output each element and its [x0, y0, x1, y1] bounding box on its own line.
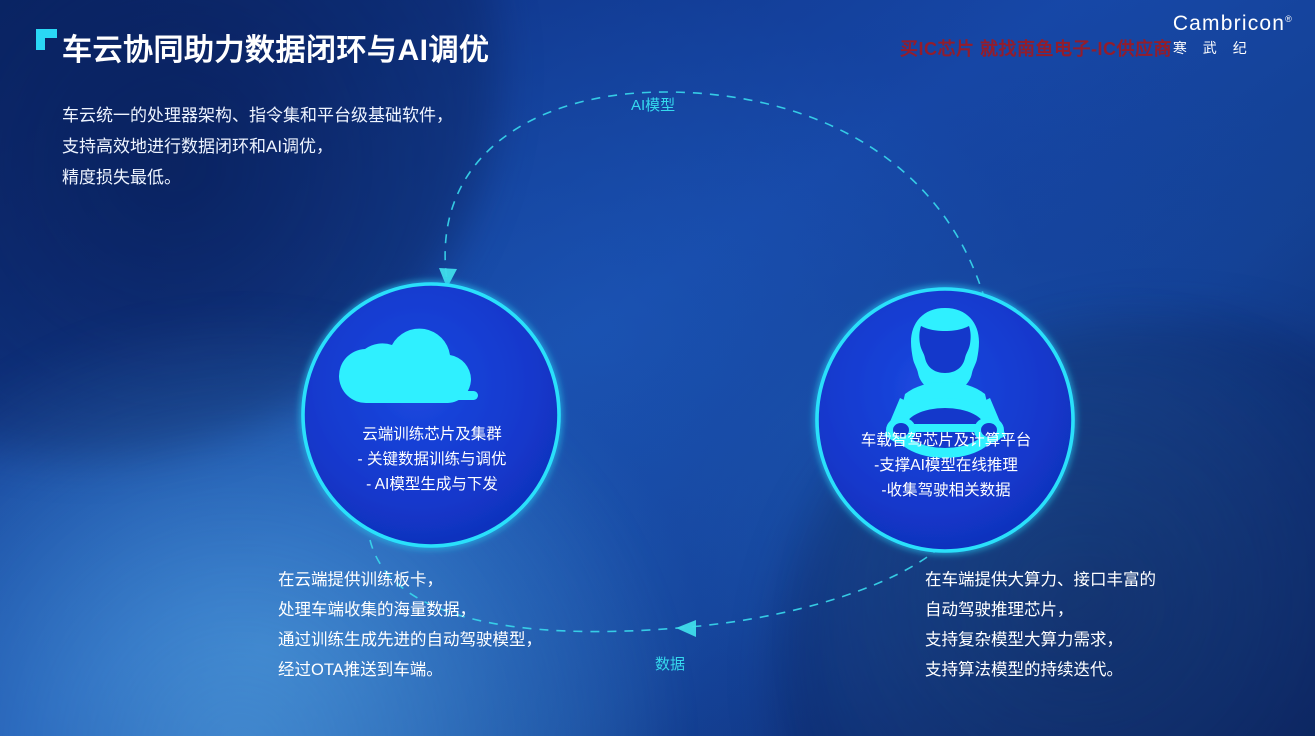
arc-label-ai-model: AI模型: [631, 94, 675, 115]
node-cloud-bullet-1: - 关键数据训练与调优: [301, 447, 563, 472]
slide-canvas: 车云协同助力数据闭环与AI调优 车云统一的处理器架构、指令集和平台级基础软件， …: [0, 0, 1315, 736]
node-vehicle-heading: 车载智驾芯片及计算平台: [815, 428, 1077, 453]
node-vehicle-text: 车载智驾芯片及计算平台 -支撑AI模型在线推理 -收集驾驶相关数据: [815, 428, 1077, 503]
node-cloud-heading: 云端训练芯片及集群: [301, 422, 563, 447]
node-cloud[interactable]: [303, 284, 559, 546]
description-vehicle-line-2: 自动驾驶推理芯片，: [925, 595, 1156, 625]
node-vehicle[interactable]: [817, 289, 1073, 551]
arc-data-arrowhead: [676, 620, 696, 637]
description-cloud-line-2: 处理车端收集的海量数据，: [278, 595, 542, 625]
arc-label-data: 数据: [655, 653, 685, 674]
description-vehicle-line-4: 支持算法模型的持续迭代。: [925, 655, 1156, 685]
node-cloud-bullet-2: - AI模型生成与下发: [301, 472, 563, 497]
description-vehicle-line-3: 支持复杂模型大算力需求，: [925, 625, 1156, 655]
node-vehicle-bullet-2: -收集驾驶相关数据: [815, 478, 1077, 503]
description-cloud-line-3: 通过训练生成先进的自动驾驶模型，: [278, 625, 542, 655]
node-cloud-text: 云端训练芯片及集群 - 关键数据训练与调优 - AI模型生成与下发: [301, 422, 563, 497]
description-cloud: 在云端提供训练板卡， 处理车端收集的海量数据， 通过训练生成先进的自动驾驶模型，…: [278, 565, 542, 685]
description-vehicle: 在车端提供大算力、接口丰富的 自动驾驶推理芯片， 支持复杂模型大算力需求， 支持…: [925, 565, 1156, 685]
description-cloud-line-1: 在云端提供训练板卡，: [278, 565, 542, 595]
description-vehicle-line-1: 在车端提供大算力、接口丰富的: [925, 565, 1156, 595]
arc-ai-model: [439, 92, 985, 300]
node-vehicle-bullet-1: -支撑AI模型在线推理: [815, 453, 1077, 478]
description-cloud-line-4: 经过OTA推送到车端。: [278, 655, 542, 685]
